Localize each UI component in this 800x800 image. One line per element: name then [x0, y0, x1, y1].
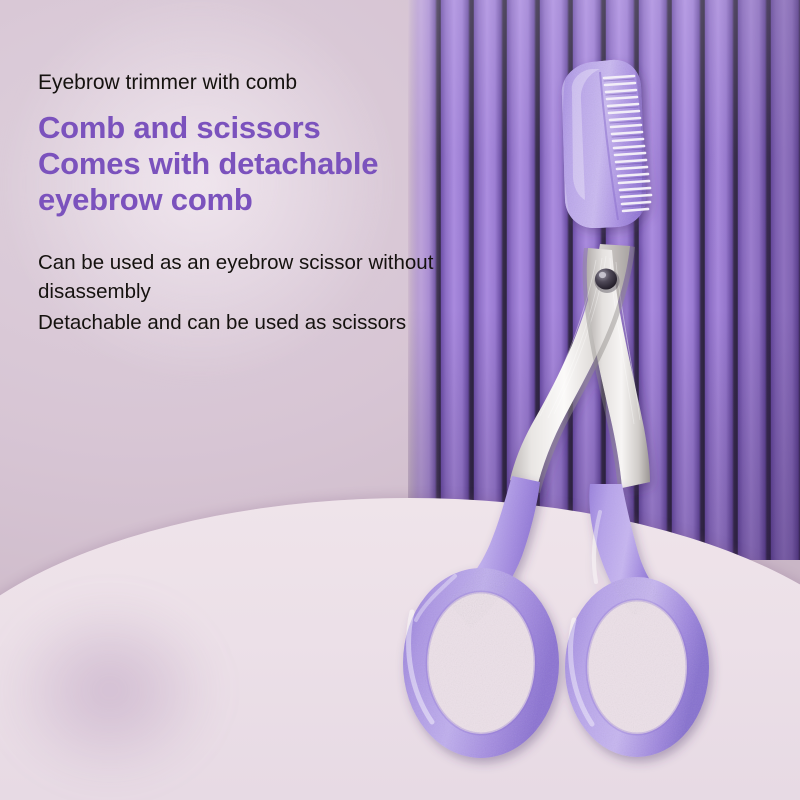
headline-line-1: Comb and scissors — [38, 110, 558, 146]
body-line-2: disassembly — [38, 277, 558, 306]
body-line-3: Detachable and can be used as scissors — [38, 308, 558, 337]
marketing-copy: Eyebrow trimmer with comb Comb and sciss… — [38, 70, 558, 337]
headline: Comb and scissors Comes with detachable … — [38, 110, 558, 218]
body-copy: Can be used as an eyebrow scissor withou… — [38, 248, 558, 337]
product-image: Eyebrow trimmer with comb Comb and sciss… — [0, 0, 800, 800]
headline-line-3: eyebrow comb — [38, 182, 558, 218]
body-line-1: Can be used as an eyebrow scissor withou… — [38, 248, 558, 277]
fluted-panel-right-shadow — [710, 0, 800, 560]
headline-line-2: Comes with detachable — [38, 146, 558, 182]
floor-left-shading — [0, 560, 260, 800]
eyebrow-text: Eyebrow trimmer with comb — [38, 70, 558, 96]
